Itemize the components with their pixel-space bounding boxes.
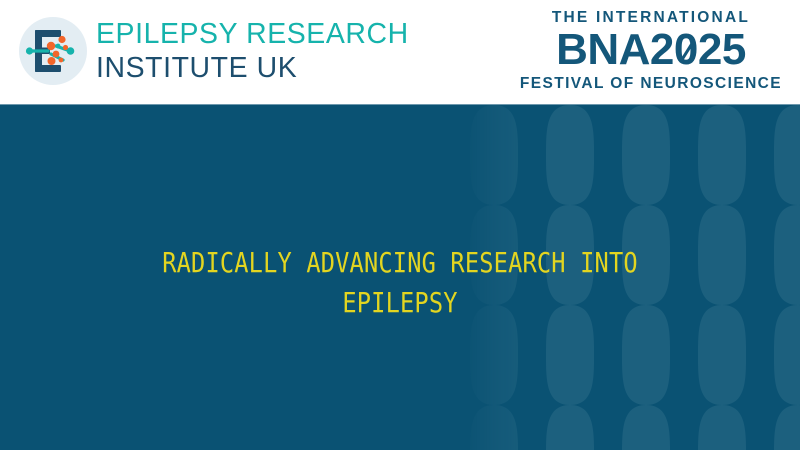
bna-bottom-line: FESTIVAL OF NEUROSCIENCE: [520, 76, 782, 92]
eri-wordmark-line-1: EPILEPSY RESEARCH: [96, 20, 409, 49]
eri-network-icon: [18, 16, 88, 86]
eri-wordmark-line-2: INSTITUTE UK: [96, 54, 409, 83]
presentation-slide: RADICALLY ADVANCING RESEARCH INTO EPILEP…: [0, 0, 800, 450]
slide-title: RADICALLY ADVANCING RESEARCH INTO EPILEP…: [0, 243, 800, 323]
epilepsy-research-institute-logo: EPILEPSY RESEARCH INSTITUTE UK: [18, 16, 415, 86]
bna-2025-logo: THE INTERNATIONAL BNA2025 FESTIVAL OF NE…: [520, 10, 782, 91]
title-line-1: RADICALLY ADVANCING RESEARCH INTO: [56, 243, 744, 283]
title-line-2: EPILEPSY: [56, 283, 744, 323]
bna-top-line: THE INTERNATIONAL: [520, 10, 782, 26]
bna-main-prefix: BNA2: [556, 25, 674, 74]
bna-main-line: BNA2025: [520, 28, 782, 72]
bna-main-suffix: 25: [698, 25, 746, 74]
bna-slashed-zero: 0: [674, 28, 698, 72]
header-divider: [0, 104, 800, 105]
eri-wordmark: EPILEPSY RESEARCH INSTITUTE UK: [96, 20, 415, 83]
